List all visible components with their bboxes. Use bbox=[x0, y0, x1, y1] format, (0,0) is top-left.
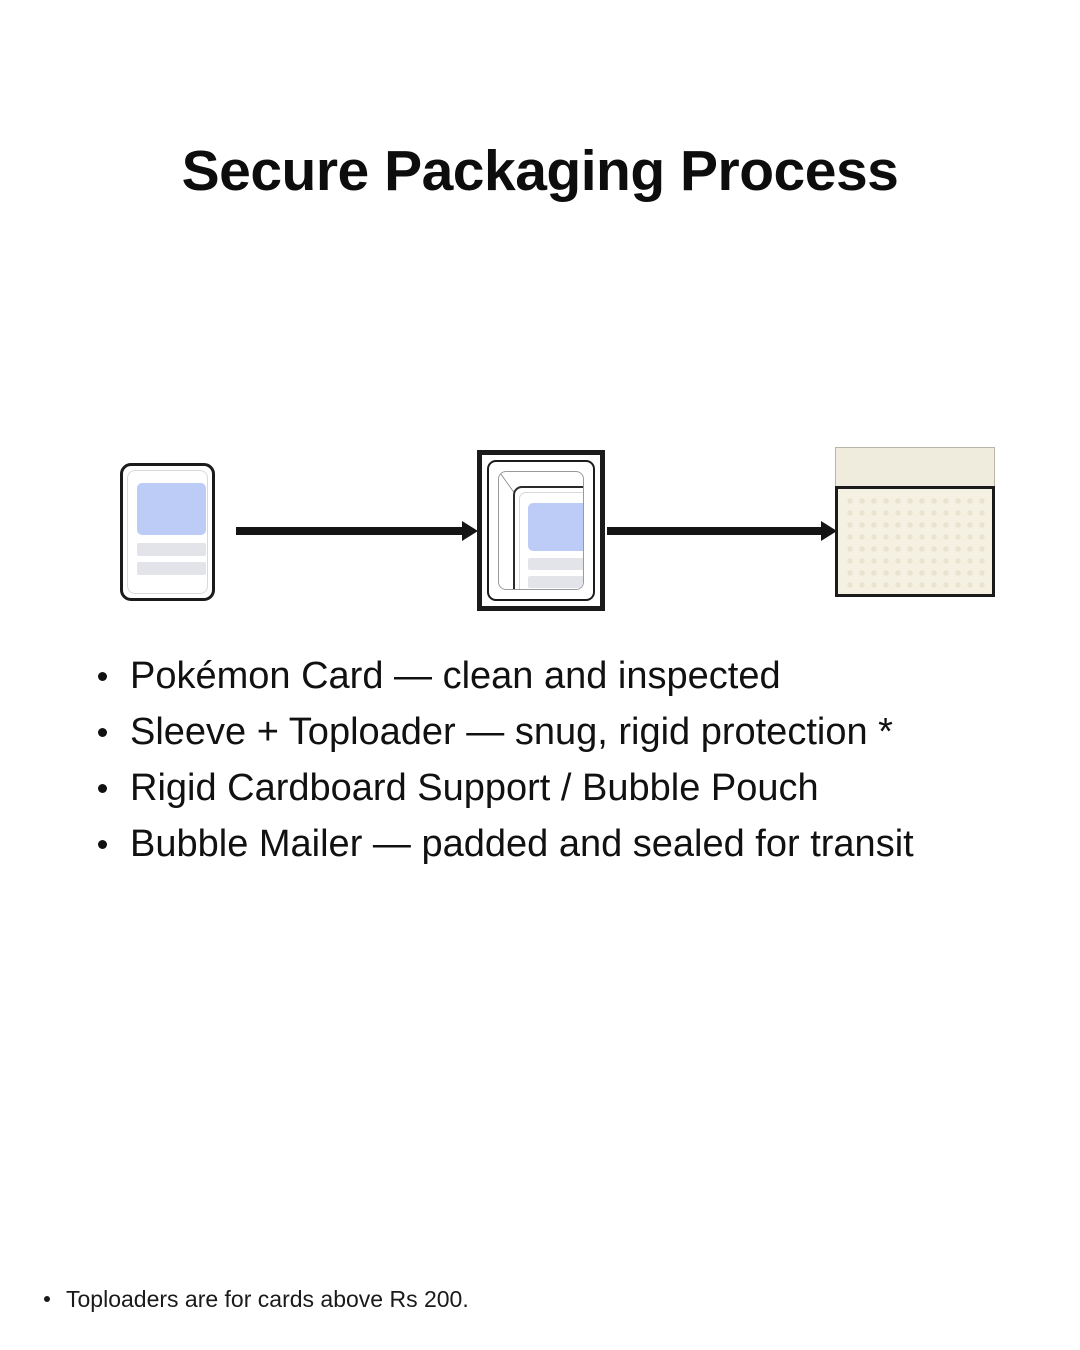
footnote-item: Toploaders are for cards above Rs 200. bbox=[36, 1282, 936, 1316]
bullet-dot-icon bbox=[98, 672, 107, 681]
list-item-label: Pokémon Card — clean and inspected bbox=[130, 655, 781, 697]
footnote-list: Toploaders are for cards above Rs 200. bbox=[36, 1282, 936, 1316]
packaging-process-diagram bbox=[0, 420, 1080, 630]
card-text-line bbox=[528, 558, 584, 570]
list-item: Rigid Cardboard Support / Bubble Pouch bbox=[86, 760, 1046, 816]
card-text-line bbox=[137, 562, 206, 575]
arrow-head bbox=[462, 521, 478, 541]
trading-card-icon bbox=[120, 463, 215, 601]
bubble-texture bbox=[844, 495, 986, 588]
arrow-shaft bbox=[607, 527, 821, 535]
card-text-line bbox=[137, 543, 206, 556]
toploader-icon bbox=[477, 450, 605, 611]
bullet-dot-icon bbox=[98, 840, 107, 849]
card-artwork-panel bbox=[528, 503, 584, 551]
packaging-steps-list: Pokémon Card — clean and inspected Sleev… bbox=[86, 648, 1046, 872]
bullet-dot-icon bbox=[98, 784, 107, 793]
bubble-mailer-icon bbox=[835, 447, 995, 597]
mailer-body bbox=[835, 486, 995, 597]
card-face bbox=[127, 470, 208, 594]
trading-card-icon bbox=[513, 486, 584, 590]
list-item: Pokémon Card — clean and inspected bbox=[86, 648, 1046, 704]
page-title: Secure Packaging Process bbox=[0, 142, 1080, 202]
arrow-shaft bbox=[236, 527, 462, 535]
footnote-label: Toploaders are for cards above Rs 200. bbox=[66, 1286, 469, 1312]
card-artwork-panel bbox=[137, 483, 206, 535]
card-text-line bbox=[528, 576, 584, 588]
sleeve-icon bbox=[498, 471, 584, 590]
bullet-dot-icon bbox=[98, 728, 107, 737]
toploader-wall bbox=[487, 460, 595, 601]
list-item-label: Sleeve + Toploader — snug, rigid protect… bbox=[130, 711, 893, 753]
bullet-dot-icon bbox=[44, 1296, 50, 1302]
card-face bbox=[519, 492, 584, 590]
list-item: Sleeve + Toploader — snug, rigid protect… bbox=[86, 704, 1046, 760]
mailer-flap bbox=[835, 447, 995, 487]
list-item-label: Rigid Cardboard Support / Bubble Pouch bbox=[130, 767, 819, 809]
list-item-label: Bubble Mailer — padded and sealed for tr… bbox=[130, 823, 914, 865]
list-item: Bubble Mailer — padded and sealed for tr… bbox=[86, 816, 1046, 872]
